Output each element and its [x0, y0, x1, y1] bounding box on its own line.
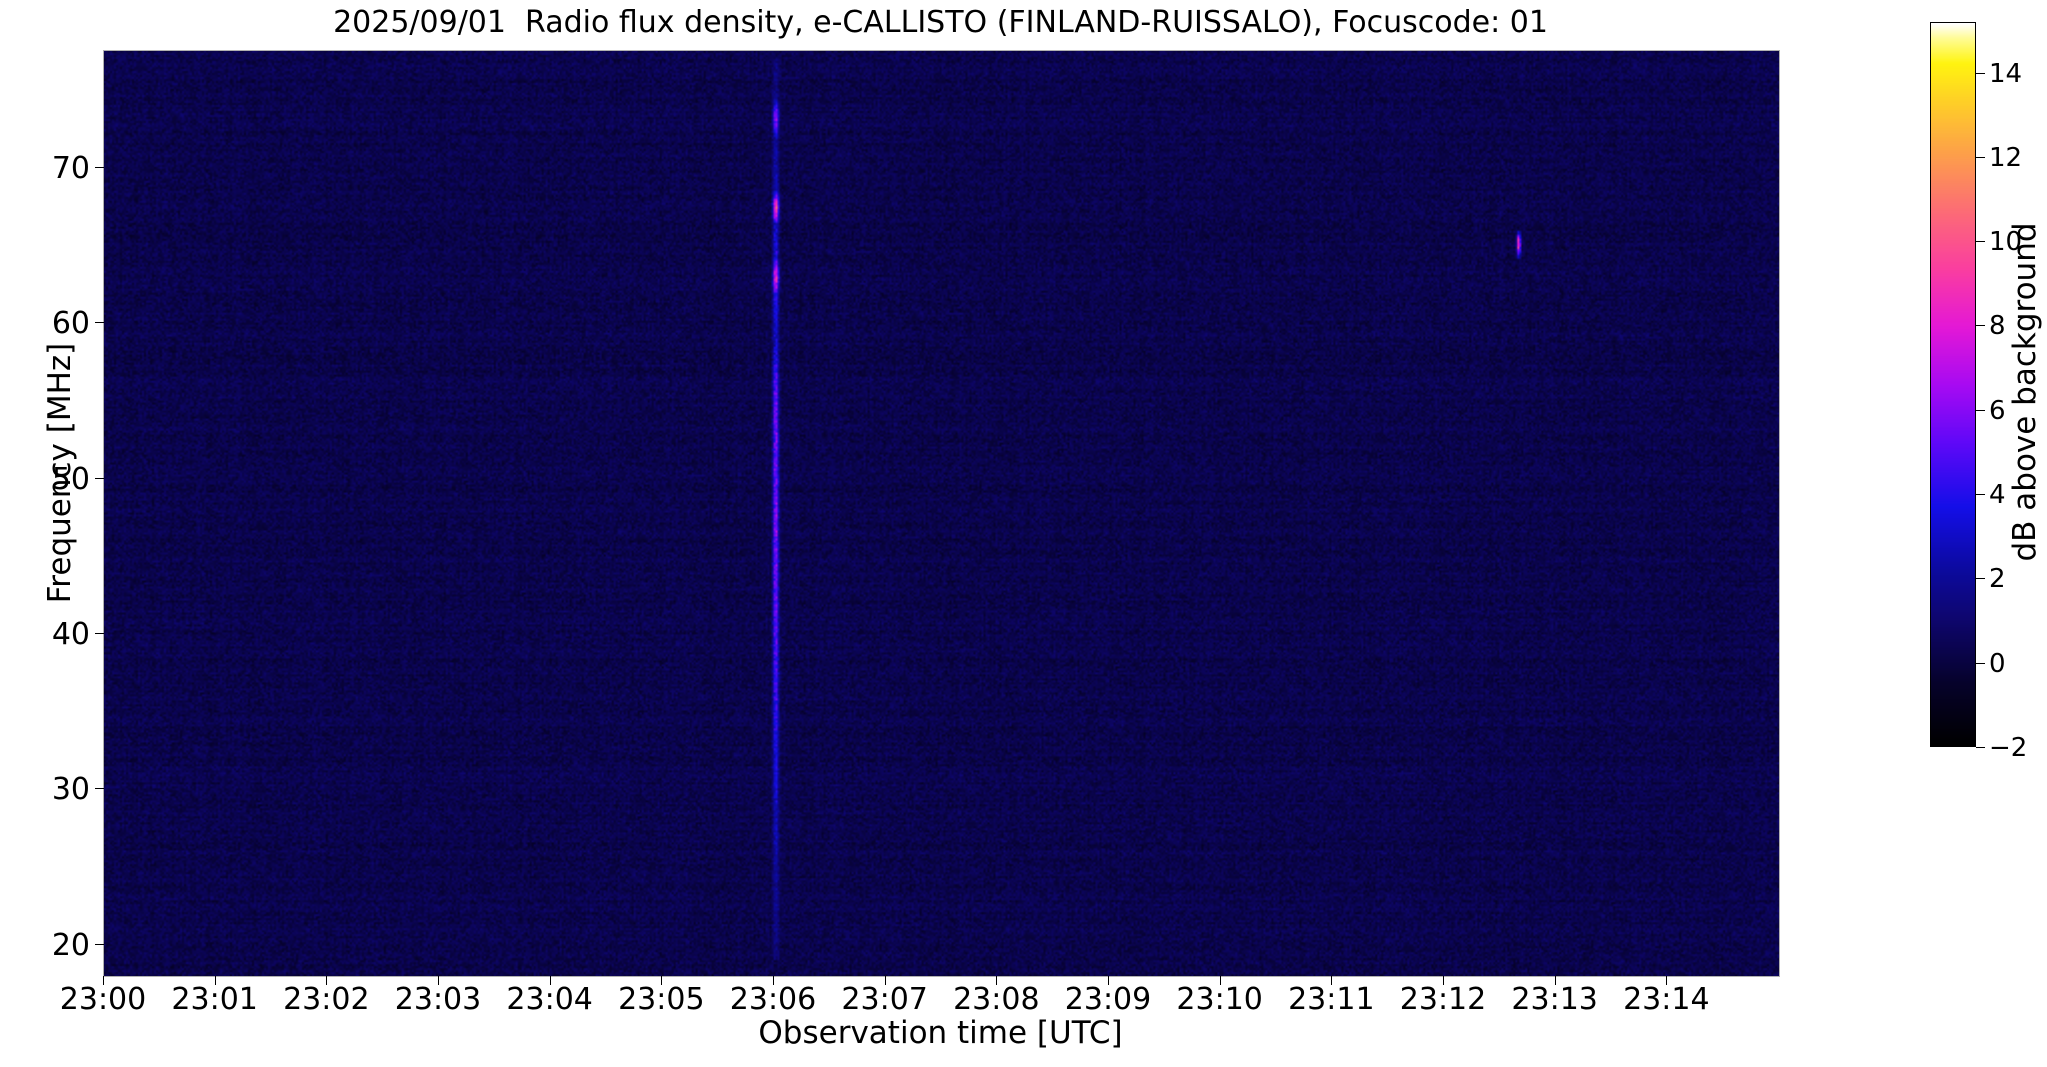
- x-tick-mark: [1331, 976, 1332, 985]
- x-axis-label: Observation time [UTC]: [103, 1015, 1778, 1051]
- x-tick-mark: [1220, 976, 1221, 985]
- y-tick-label: 30: [0, 772, 90, 807]
- colorbar[interactable]: [1930, 22, 1976, 747]
- page-title: 2025/09/01 Radio flux density, e-CALLIST…: [103, 4, 1778, 42]
- y-tick-label: 20: [0, 928, 90, 963]
- y-tick-label: 50: [0, 462, 90, 497]
- colorbar-tick-mark: [1976, 663, 1985, 664]
- y-tick-label: 60: [0, 306, 90, 341]
- x-tick-mark: [773, 976, 774, 985]
- colorbar-tick-mark: [1976, 578, 1985, 579]
- colorbar-tick-mark: [1976, 410, 1985, 411]
- y-tick-mark: [95, 322, 104, 323]
- colorbar-gradient: [1930, 22, 1976, 747]
- x-tick-mark: [885, 976, 886, 985]
- y-tick-label: 70: [0, 151, 90, 186]
- colorbar-tick-mark: [1976, 241, 1985, 242]
- x-tick-mark: [1666, 976, 1667, 985]
- x-tick-label: 23:14: [1566, 982, 1766, 1017]
- colorbar-tick-mark: [1976, 747, 1985, 748]
- spectrogram-heatmap[interactable]: [104, 51, 1779, 976]
- colorbar-tick-mark: [1976, 157, 1985, 158]
- x-tick-mark: [326, 976, 327, 985]
- y-tick-label: 40: [0, 617, 90, 652]
- x-tick-mark: [550, 976, 551, 985]
- colorbar-tick-mark: [1976, 494, 1985, 495]
- x-tick-mark: [996, 976, 997, 985]
- y-tick-mark: [95, 788, 104, 789]
- x-tick-mark: [661, 976, 662, 985]
- colorbar-tick-mark: [1976, 325, 1985, 326]
- y-tick-mark: [95, 633, 104, 634]
- y-tick-mark: [95, 478, 104, 479]
- plot-area[interactable]: [103, 50, 1780, 977]
- y-tick-mark: [95, 944, 104, 945]
- x-tick-mark: [1443, 976, 1444, 985]
- x-tick-mark: [215, 976, 216, 985]
- x-tick-mark: [103, 976, 104, 985]
- y-tick-mark: [95, 167, 104, 168]
- x-tick-mark: [1555, 976, 1556, 985]
- x-tick-mark: [438, 976, 439, 985]
- spectrogram-figure: 2025/09/01 Radio flux density, e-CALLIST…: [0, 0, 2047, 1067]
- colorbar-label: dB above background: [2007, 32, 2043, 752]
- x-tick-mark: [1108, 976, 1109, 985]
- colorbar-tick-mark: [1976, 73, 1985, 74]
